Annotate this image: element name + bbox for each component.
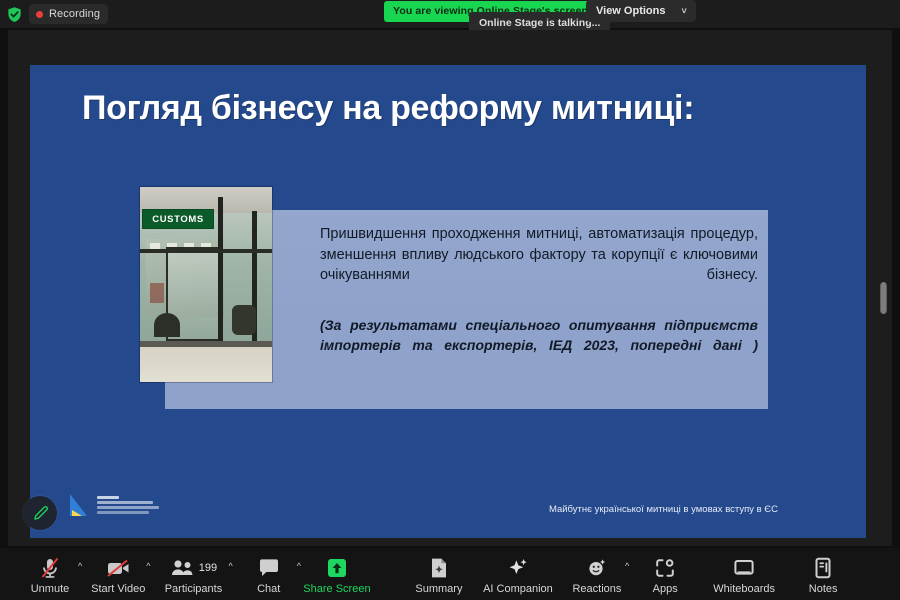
logo-line: [97, 511, 149, 514]
toolbar-left-group: Unmute ^ Star: [14, 553, 373, 595]
photo-foreground-object: [154, 313, 180, 337]
presentation-slide: Погляд бізнесу на реформу митниці: Пришв…: [30, 65, 866, 538]
start-video-label: Start Video: [91, 583, 145, 595]
notes-icon: [810, 556, 836, 580]
photo-interior-object: [150, 283, 164, 303]
unmute-label: Unmute: [31, 583, 70, 595]
start-video-control-group: Start Video ^: [82, 553, 150, 595]
microphone-muted-icon: [37, 556, 63, 580]
whiteboards-label: Whiteboards: [713, 583, 775, 595]
recording-label: Recording: [49, 8, 100, 20]
slide-source-paragraph: (За результатами спеціального опитування…: [320, 315, 758, 376]
photo-window-mullion: [218, 197, 223, 347]
stage-scrollbar-handle[interactable]: [880, 282, 887, 314]
start-video-button[interactable]: Start Video: [82, 553, 154, 595]
participants-button[interactable]: 199 Participants: [150, 553, 236, 595]
ai-companion-label: AI Companion: [483, 583, 553, 595]
apps-icon: [652, 556, 678, 580]
customs-sign-text: CUSTOMS: [152, 214, 204, 225]
photo-foreground-object: [232, 305, 256, 335]
chat-bubble-icon: [256, 556, 282, 580]
zoom-meeting-window: Recording You are viewing Online Stage's…: [0, 0, 900, 600]
logo-line: [97, 496, 119, 499]
reactions-smiley-icon: [584, 556, 610, 580]
share-screen-label: Share Screen: [303, 583, 370, 595]
share-screen-icon: [324, 556, 350, 580]
apps-button[interactable]: Apps: [629, 553, 701, 595]
chat-label: Chat: [257, 583, 280, 595]
reactions-button[interactable]: Reactions: [561, 553, 633, 595]
logo-line: [97, 501, 153, 504]
view-options-label: View Options: [596, 5, 665, 17]
toolbar-right-group: Summary AI Companion: [403, 553, 859, 595]
shield-check-icon[interactable]: [6, 6, 23, 23]
photo-window-rail: [140, 249, 272, 253]
notes-button[interactable]: Notes: [787, 553, 859, 595]
participants-icon: 199: [170, 556, 217, 580]
unmute-control-group: Unmute ^: [14, 553, 82, 595]
chevron-down-icon[interactable]: ˅: [681, 6, 686, 16]
whiteboards-button[interactable]: Whiteboards: [701, 553, 787, 595]
slide-source-note: (За результатами спеціального опитування…: [320, 315, 758, 376]
ai-sparkle-icon: [505, 556, 531, 580]
view-options-button[interactable]: View Options ˅: [586, 0, 696, 22]
ai-companion-button[interactable]: AI Companion: [475, 553, 561, 595]
participants-count: 199: [199, 562, 217, 574]
participants-control-group: 199 Participants ^: [150, 553, 232, 595]
participants-label: Participants: [165, 583, 222, 595]
logo-line: [97, 506, 159, 509]
customs-building-photo: CUSTOMS: [140, 187, 272, 382]
photo-floor: [140, 341, 272, 382]
slide-body-text: Пришвидшення проходження митниці, автома…: [320, 224, 758, 306]
shared-screen-stage: Погляд бізнесу на реформу митниці: Пришв…: [8, 30, 892, 546]
reactions-label: Reactions: [572, 583, 621, 595]
summary-doc-icon: [426, 556, 452, 580]
shared-screen-canvas: Погляд бізнесу на реформу митниці: Пришв…: [8, 30, 892, 546]
reactions-control-group: Reactions ^: [561, 553, 629, 595]
recording-status-group: Recording: [6, 3, 108, 25]
meeting-controls-toolbar: Unmute ^ Star: [0, 548, 900, 600]
recording-indicator[interactable]: Recording: [29, 4, 108, 24]
video-off-icon: [105, 556, 131, 580]
chat-control-group: Chat ^: [233, 553, 301, 595]
unmute-button[interactable]: Unmute: [14, 553, 86, 595]
annotate-button[interactable]: [23, 496, 57, 530]
slide-body-paragraph: Пришвидшення проходження митниці, автома…: [320, 224, 758, 306]
summary-label: Summary: [415, 583, 462, 595]
apps-label: Apps: [653, 583, 678, 595]
share-screen-button[interactable]: Share Screen: [301, 553, 373, 595]
record-dot-icon: [36, 11, 43, 18]
logo-triangle-icon: [68, 492, 90, 518]
slide-footer-text: Майбутнє української митниці в умовах вс…: [549, 504, 778, 515]
notes-label: Notes: [809, 583, 838, 595]
customs-sign: CUSTOMS: [142, 209, 214, 229]
chat-button[interactable]: Chat: [233, 553, 305, 595]
organization-logo: [68, 492, 159, 518]
meeting-top-bar: Recording You are viewing Online Stage's…: [0, 0, 900, 28]
slide-title: Погляд бізнесу на реформу митниці:: [82, 90, 822, 127]
pencil-annotate-icon: [32, 505, 49, 522]
summary-button[interactable]: Summary: [403, 553, 475, 595]
whiteboard-icon: [731, 556, 757, 580]
logo-wordmark: [97, 496, 159, 514]
